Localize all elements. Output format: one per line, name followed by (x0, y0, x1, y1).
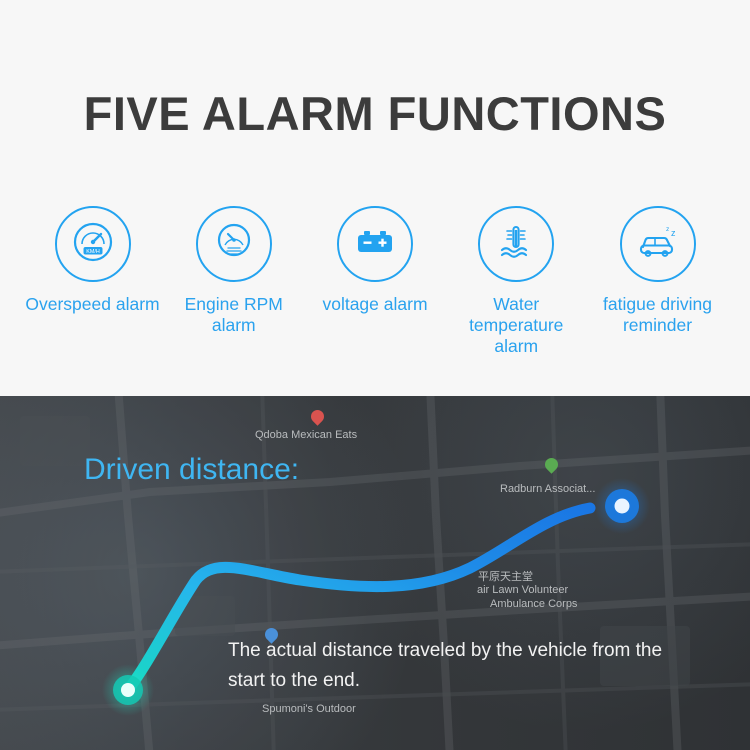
feature-label: Overspeed alarm (25, 294, 159, 315)
feature-icon-circle: z z (620, 206, 696, 282)
feature-icon-circle (196, 206, 272, 282)
svg-text:z: z (671, 228, 676, 238)
feature-item-fatigue-driving: z z fatigue driving reminder (587, 206, 728, 336)
feature-icon-circle (478, 206, 554, 282)
feature-label: Water temperature alarm (446, 294, 587, 357)
speedometer-icon: KM/H (70, 219, 116, 270)
feature-item-engine-rpm: Engine RPM alarm (163, 206, 304, 336)
feature-item-overspeed: KM/H Overspeed alarm (22, 206, 163, 315)
feature-icon-circle (337, 206, 413, 282)
promo-page: FIVE ALARM FUNCTIONS KM/H (0, 0, 750, 750)
svg-text:KM/H: KM/H (86, 249, 100, 255)
map-caption: The actual distance traveled by the vehi… (228, 636, 698, 696)
feature-item-voltage: voltage alarm (305, 206, 446, 315)
svg-text:z: z (666, 226, 669, 233)
feature-label: Engine RPM alarm (163, 294, 304, 336)
feature-label: voltage alarm (322, 294, 427, 315)
map-panel: Qdoba Mexican Eats Radburn Associat... 平… (0, 396, 750, 750)
battery-icon (351, 218, 399, 271)
fatigue-driving-car-icon: z z (633, 217, 683, 272)
feature-list: KM/H Overspeed alarm (22, 206, 728, 357)
feature-item-water-temperature: Water temperature alarm (446, 206, 587, 357)
driven-distance-heading: Driven distance: (84, 453, 299, 487)
feature-icon-circle: KM/H (55, 206, 131, 282)
features-panel: FIVE ALARM FUNCTIONS KM/H (0, 0, 750, 396)
route-path (0, 396, 750, 750)
coolant-temperature-icon (493, 219, 539, 270)
tachometer-icon (211, 219, 257, 270)
page-title: FIVE ALARM FUNCTIONS (0, 86, 750, 141)
feature-label: fatigue driving reminder (587, 294, 728, 336)
